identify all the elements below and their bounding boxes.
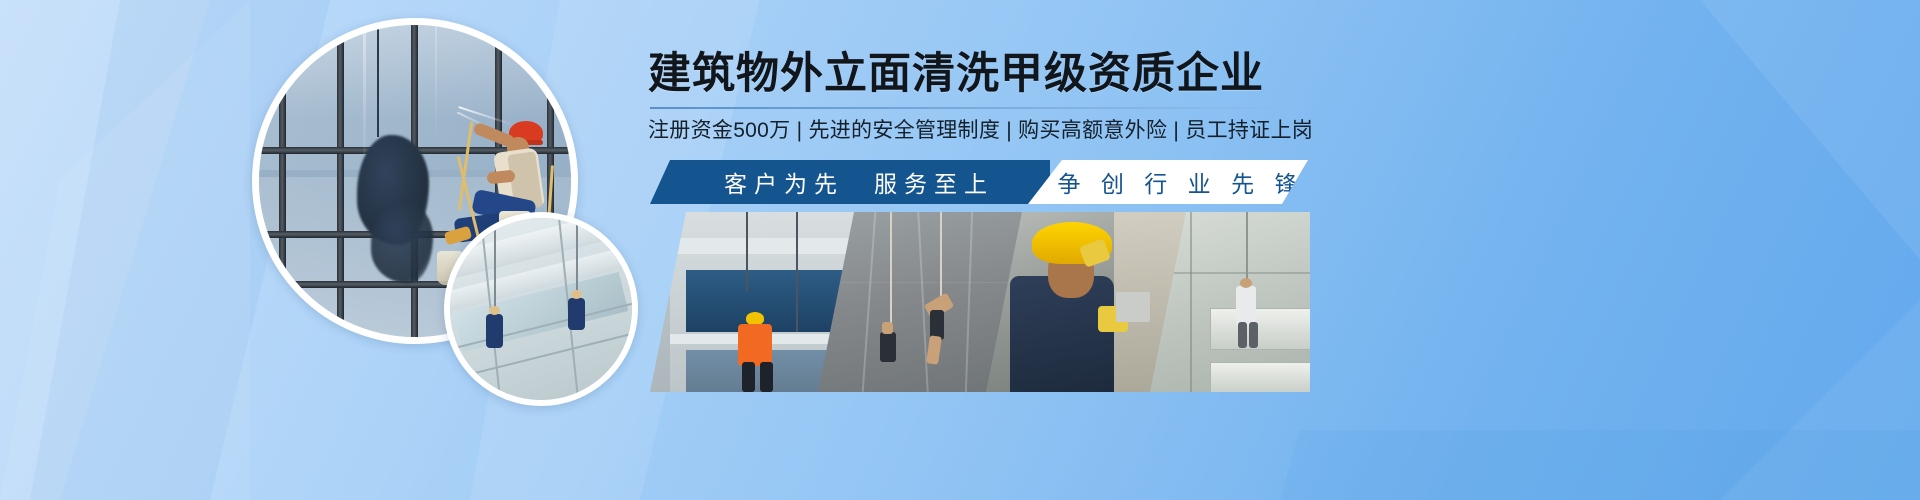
title-divider bbox=[650, 107, 1292, 109]
photo-collage-strip bbox=[650, 212, 1310, 392]
slogan-secondary-label: 争 创 行 业 先 锋 bbox=[1032, 165, 1305, 199]
banner-text-block: 建筑物外立面清洗甲级资质企业 注册资金500万 | 先进的安全管理制度 | 购买… bbox=[648, 50, 1296, 144]
promotional-banner: 建筑物外立面清洗甲级资质企业 注册资金500万 | 先进的安全管理制度 | 购买… bbox=[0, 0, 1920, 500]
slogan-primary-label: 客户为先 服务至上 bbox=[706, 165, 994, 199]
slogan-bar: 客户为先 服务至上 争 创 行 业 先 锋 bbox=[650, 160, 1310, 204]
slogan-primary: 客户为先 服务至上 bbox=[650, 160, 1050, 204]
slogan-secondary: 争 创 行 业 先 锋 bbox=[1028, 160, 1308, 204]
photo-workers-building-facade bbox=[444, 212, 638, 406]
page-title: 建筑物外立面清洗甲级资质企业 bbox=[648, 50, 1296, 98]
subtitle-features: 注册资金500万 | 先进的安全管理制度 | 购买高额意外险 | 员工持证上岗 bbox=[648, 117, 1296, 144]
